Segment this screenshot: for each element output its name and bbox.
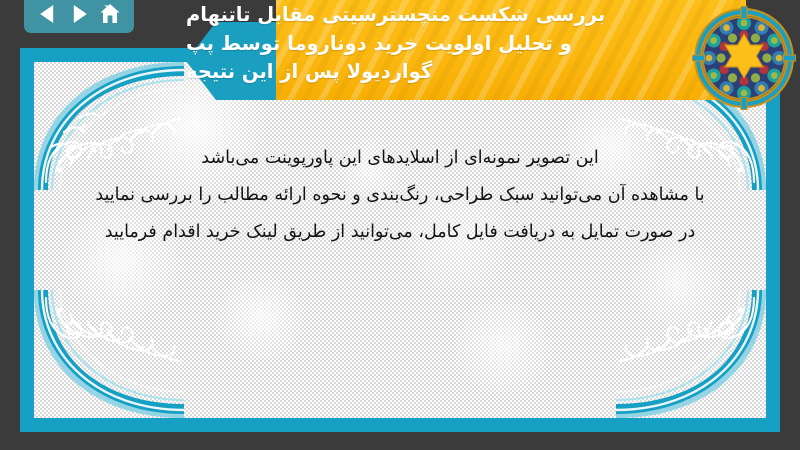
body-line-1: این تصویر نمونه‌ای از اسلایدهای این پاور… (74, 140, 726, 177)
arabesque-corner-ornament-bottom-right (616, 290, 766, 418)
triangle-left-icon (40, 5, 53, 23)
title-banner: بررسی شکست منچسترسیتی مقابل تاتنهام و تح… (186, 0, 746, 108)
back-button[interactable] (35, 1, 61, 27)
title-line-1: بررسی شکست منچسترسیتی مقابل تاتنهام (186, 1, 605, 30)
body-line-3: در صورت تمایل به دریافت فایل کامل، می‌تو… (74, 214, 726, 251)
arabesque-corner-ornament-bottom-left (34, 290, 184, 418)
slide-viewer: این تصویر نمونه‌ای از اسلایدهای این پاور… (0, 0, 800, 450)
slide-body-text: این تصویر نمونه‌ای از اسلایدهای این پاور… (74, 140, 726, 251)
body-line-2: با مشاهده آن می‌توانید سبک طراحی، رنگ‌بن… (74, 177, 726, 214)
title-line-2: و تحلیل اولویت خرید دوناروما توسط پپ (186, 30, 572, 59)
islamic-mandala-medallion (692, 6, 796, 110)
navigation-bar (24, 0, 134, 33)
slide-content-area: این تصویر نمونه‌ای از اسلایدهای این پاور… (34, 62, 766, 418)
home-icon (98, 3, 122, 25)
triangle-right-icon (74, 5, 87, 23)
slide-title: بررسی شکست منچسترسیتی مقابل تاتنهام و تح… (186, 0, 746, 108)
title-line-3: گواردیولا پس از این نتیجه (186, 58, 432, 87)
home-button[interactable] (97, 1, 123, 27)
forward-button[interactable] (66, 1, 92, 27)
